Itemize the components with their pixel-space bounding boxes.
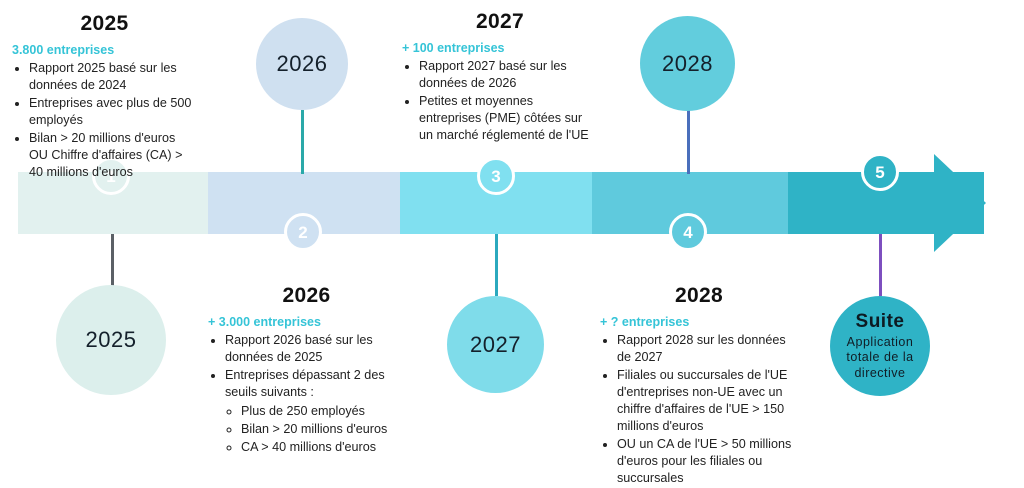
connector-stem-2026 (301, 110, 304, 174)
block-title-2026: 2026 (208, 284, 405, 308)
info-block-2028: 2028 + ? entreprises Rapport 2028 sur le… (600, 284, 798, 488)
list-item: Petites et moyennes entreprises (PME) cô… (419, 93, 598, 144)
year-bubble-2026[interactable]: 2026 (256, 18, 348, 110)
timeline-marker-4[interactable]: 4 (669, 213, 707, 251)
year-bubble-label: 2025 (86, 327, 137, 353)
block-list-2025: Rapport 2025 basé sur les données de 202… (12, 60, 197, 181)
block-list-2027: Rapport 2027 basé sur les données de 202… (402, 58, 598, 144)
list-item: Rapport 2027 basé sur les données de 202… (419, 58, 598, 92)
list-item: Rapport 2028 sur les données de 2027 (617, 332, 798, 366)
block-title-2028: 2028 (600, 284, 798, 308)
info-block-2027: 2027 + 100 entreprises Rapport 2027 basé… (402, 10, 598, 145)
year-bubble-2027[interactable]: 2027 (447, 296, 544, 393)
marker-label: 3 (491, 168, 500, 185)
timeline-marker-5[interactable]: 5 (861, 153, 899, 191)
block-title-2027: 2027 (402, 10, 598, 34)
list-item: OU un CA de l'UE > 50 millions d'euros p… (617, 436, 798, 487)
marker-label: 5 (875, 164, 884, 181)
timeline-marker-3[interactable]: 3 (477, 157, 515, 195)
list-item: Bilan > 20 millions d'euros OU Chiffre d… (29, 130, 197, 181)
list-item: Rapport 2025 basé sur les données de 202… (29, 60, 197, 94)
block-list-2028: Rapport 2028 sur les données de 2027 Fil… (600, 332, 798, 487)
marker-label: 2 (298, 224, 307, 241)
year-bubble-label: 2026 (277, 51, 328, 77)
suite-subtitle: Application totale de la directive (830, 335, 930, 382)
block-count-2025: 3.800 entreprises (12, 43, 197, 57)
marker-label: 4 (683, 224, 692, 241)
block-sublist-2026: Plus de 250 employés Bilan > 20 millions… (225, 403, 405, 456)
suite-title: Suite (856, 311, 905, 333)
list-item: Rapport 2026 basé sur les données de 202… (225, 332, 405, 366)
sub-list-item: CA > 40 millions d'euros (241, 439, 405, 456)
block-list-2026: Rapport 2026 basé sur les données de 202… (208, 332, 405, 456)
year-bubble-2025[interactable]: 2025 (56, 285, 166, 395)
year-bubble-2028[interactable]: 2028 (640, 16, 735, 111)
sub-list-item: Plus de 250 employés (241, 403, 405, 420)
list-item: Filiales ou succursales de l'UE d'entrep… (617, 367, 798, 435)
year-bubble-label: 2028 (662, 51, 713, 77)
timeline-arrowhead (934, 154, 986, 252)
year-bubble-suite[interactable]: Suite Application totale de la directive (830, 296, 930, 396)
block-count-2027: + 100 entreprises (402, 41, 598, 55)
block-count-2026: + 3.000 entreprises (208, 315, 405, 329)
list-item: Entreprises dépassant 2 des seuils suiva… (225, 367, 405, 456)
connector-stem-2028 (687, 110, 690, 174)
sub-list-item: Bilan > 20 millions d'euros (241, 421, 405, 438)
info-block-2026: 2026 + 3.000 entreprises Rapport 2026 ba… (208, 284, 405, 457)
list-item-text: Entreprises dépassant 2 des seuils suiva… (225, 368, 385, 399)
block-title-2025: 2025 (12, 12, 197, 36)
year-bubble-label: 2027 (470, 332, 521, 358)
connector-stem-2027 (495, 234, 498, 296)
list-item: Entreprises avec plus de 500 employés (29, 95, 197, 129)
timeline-infographic: 1 2 3 4 5 2025 2026 2027 2028 Suite Appl… (0, 0, 1024, 484)
block-count-2028: + ? entreprises (600, 315, 798, 329)
info-block-2025: 2025 3.800 entreprises Rapport 2025 basé… (12, 12, 197, 182)
timeline-marker-2[interactable]: 2 (284, 213, 322, 251)
connector-stem-suite (879, 234, 882, 296)
